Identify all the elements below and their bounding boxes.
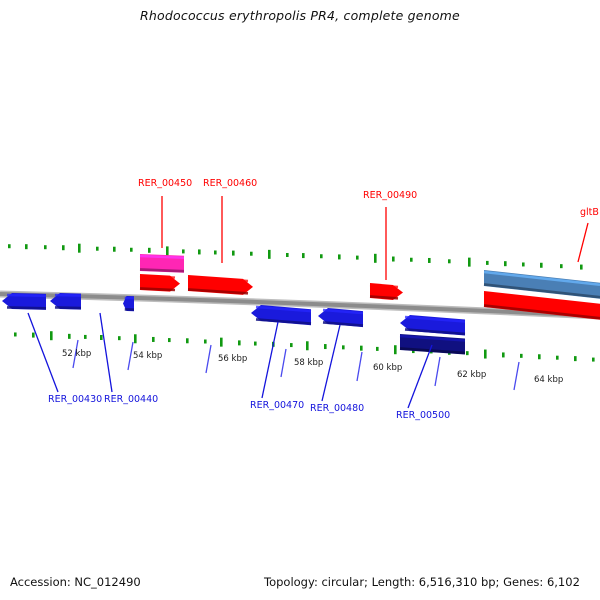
sequence-tick-mark xyxy=(198,249,201,254)
sequence-tick-mark xyxy=(268,250,271,259)
ruler-tick-line xyxy=(281,349,286,377)
sequence-tick-mark xyxy=(342,345,345,349)
sequence-tick-mark xyxy=(134,334,137,343)
sequence-tick-mark xyxy=(186,338,189,343)
sequence-tick-mark xyxy=(214,250,217,254)
sequence-tick-mark xyxy=(204,339,207,343)
sequence-tick-mark xyxy=(410,258,413,262)
sequence-tick-mark xyxy=(486,261,489,265)
gene-label-bottom-leader-line xyxy=(28,313,58,392)
sequence-tick-mark xyxy=(356,256,359,260)
sequence-tick-mark xyxy=(580,265,583,270)
gene-label-bottom-leader-line xyxy=(262,322,278,398)
ruler-tick-line xyxy=(357,352,362,381)
sequence-tick-mark xyxy=(556,356,559,360)
sequence-tick-mark xyxy=(466,351,469,355)
sequence-tick-mark xyxy=(360,346,363,351)
sequence-tick-mark xyxy=(130,248,133,252)
gene-feature-RER_00460[interactable] xyxy=(188,275,253,295)
gene-feature-RER_00500[interactable] xyxy=(400,315,465,336)
sequence-tick-mark xyxy=(14,332,17,336)
ruler-tick-label: 52 kbp xyxy=(62,349,91,359)
sequence-tick-mark xyxy=(118,336,121,340)
ruler-tick-label: 60 kbp xyxy=(373,363,402,373)
gene-label-bottom-RER_00440[interactable]: RER_00440 xyxy=(104,394,158,405)
sequence-tick-mark xyxy=(68,334,71,339)
sequence-tick-mark xyxy=(78,244,81,253)
gene-feature-RER_00500-box[interactable] xyxy=(400,334,465,355)
gene-feature-shadow xyxy=(140,269,184,271)
gene-label-bottom-leader-line xyxy=(322,325,340,401)
gene-label-bottom-leader-line xyxy=(100,313,112,392)
gene-label-bottom-RER_00470[interactable]: RER_00470 xyxy=(250,400,304,411)
sequence-tick-mark xyxy=(232,251,235,256)
gene-feature-RER_00450-box[interactable] xyxy=(140,254,184,273)
gene-label-bottom-RER_00430[interactable]: RER_00430 xyxy=(48,394,102,405)
sequence-tick-mark xyxy=(448,259,451,263)
gene-feature-RER_00490[interactable] xyxy=(370,283,403,300)
genome-map-viewer[interactable]: Rhodococcus erythropolis PR4, complete g… xyxy=(0,0,600,600)
sequence-tick-mark xyxy=(44,245,47,249)
gene-feature-RER_00450[interactable] xyxy=(140,274,180,292)
sequence-tick-mark xyxy=(504,261,507,266)
sequence-tick-mark xyxy=(182,249,185,253)
gene-label-bottom-RER_00500[interactable]: RER_00500 xyxy=(396,410,450,421)
sequence-tick-mark xyxy=(250,252,253,256)
gene-feature-highlight xyxy=(55,295,81,296)
gene-label-top-RER_00450[interactable]: RER_00450 xyxy=(138,178,192,189)
gene-label-top-RER_00490[interactable]: RER_00490 xyxy=(363,190,417,201)
sequence-tick-mark xyxy=(290,343,293,347)
gene-feature-highlight xyxy=(7,295,46,296)
sequence-tick-mark xyxy=(560,264,563,268)
sequence-tick-mark xyxy=(574,356,577,361)
sequence-tick-mark xyxy=(238,340,241,345)
sequence-tick-mark xyxy=(220,338,223,347)
sequence-tick-mark xyxy=(338,254,341,259)
sequence-tick-mark xyxy=(484,350,487,359)
ruler-tick-label: 64 kbp xyxy=(534,375,563,385)
sequence-tick-mark xyxy=(428,258,431,263)
ruler-tick-line xyxy=(514,362,519,390)
ruler-tick-label: 54 kbp xyxy=(133,351,162,361)
sequence-tick-mark xyxy=(96,247,99,251)
sequence-tick-mark xyxy=(376,347,379,351)
tick-row-top xyxy=(8,244,583,270)
status-bar: Accession: NC_012490 Topology: circular;… xyxy=(0,566,600,600)
ruler-tick-line xyxy=(206,345,211,373)
sequence-tick-mark xyxy=(592,358,595,362)
sequence-tick-mark xyxy=(540,263,543,268)
sequence-tick-mark xyxy=(302,253,305,258)
gene-label-top-RER_00460[interactable]: RER_00460 xyxy=(203,178,257,189)
genome-stats-text: Topology: circular; Length: 6,516,310 bp… xyxy=(264,575,580,589)
sequence-tick-mark xyxy=(62,245,65,250)
sequence-tick-mark xyxy=(148,248,151,253)
sequence-tick-mark xyxy=(168,338,171,342)
gene-feature-shadow xyxy=(55,307,81,308)
sequence-tick-mark xyxy=(502,352,505,357)
sequence-tick-mark xyxy=(286,253,289,257)
gene-label-bottom-leader-line xyxy=(408,345,432,408)
sequence-tick-mark xyxy=(113,247,116,252)
sequence-tick-mark xyxy=(32,333,35,338)
sequence-tick-mark xyxy=(152,337,155,342)
gene-feature-RER_00430[interactable] xyxy=(2,293,46,310)
ruler-tick-label: 56 kbp xyxy=(218,354,247,364)
gene-label-top-leader-line xyxy=(578,223,588,262)
sequence-tick-mark xyxy=(392,257,395,262)
gene-feature-RER_00470[interactable] xyxy=(251,305,311,325)
ruler-tick-line xyxy=(435,357,440,386)
sequence-tick-mark xyxy=(25,244,28,249)
sequence-tick-mark xyxy=(254,342,257,346)
sequence-tick-mark xyxy=(324,344,327,349)
sequence-tick-mark xyxy=(374,254,377,263)
sequence-tick-mark xyxy=(394,345,397,354)
sequence-tick-mark xyxy=(522,262,525,266)
gene-feature-RER_00480[interactable] xyxy=(318,308,363,327)
ruler-ticks: 52 kbp54 kbp56 kbp58 kbp60 kbp62 kbp64 k… xyxy=(62,340,563,390)
ruler-tick-label: 62 kbp xyxy=(457,370,486,380)
ruler-tick-label: 58 kbp xyxy=(294,358,323,368)
gene-label-bottom-RER_00480[interactable]: RER_00480 xyxy=(310,403,364,414)
sequence-tick-mark xyxy=(166,246,169,255)
sequence-tick-mark xyxy=(306,341,309,350)
sequence-tick-mark xyxy=(520,354,523,358)
accession-text: Accession: NC_012490 xyxy=(10,575,141,589)
sequence-tick-mark xyxy=(100,335,103,340)
sequence-tick-mark xyxy=(50,331,53,340)
sequence-tick-mark xyxy=(468,258,471,267)
sequence-tick-mark xyxy=(320,254,323,258)
sequence-tick-mark xyxy=(84,335,87,339)
gene-feature-shadow xyxy=(7,307,46,308)
sequence-tick-mark xyxy=(8,244,11,248)
gene-feature-shadow xyxy=(140,288,175,290)
genome-map-canvas[interactable]: 52 kbp54 kbp56 kbp58 kbp60 kbp62 kbp64 k… xyxy=(0,0,600,600)
sequence-tick-mark xyxy=(538,354,541,359)
gene-feature-highlight xyxy=(140,276,175,278)
top-gene-labels: RER_00450RER_00460RER_00490gltB xyxy=(138,178,599,280)
gene-label-top-gltB[interactable]: gltB xyxy=(580,207,599,218)
